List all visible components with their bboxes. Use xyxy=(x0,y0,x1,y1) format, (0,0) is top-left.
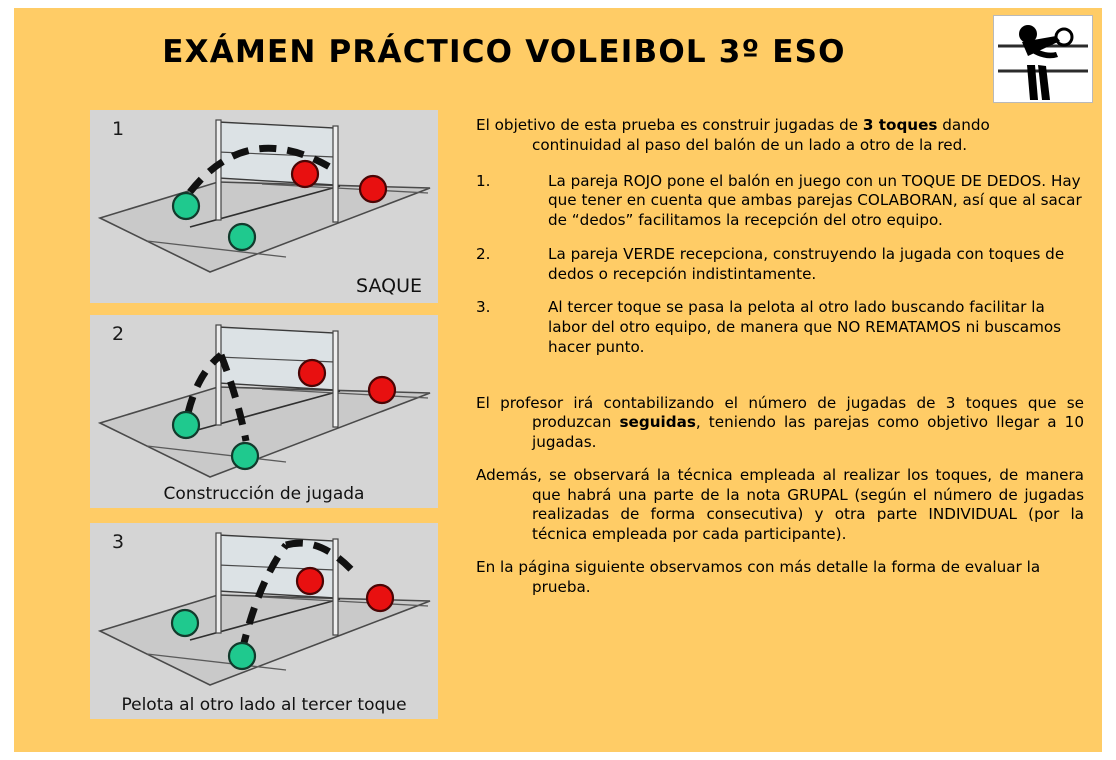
player-green-2 xyxy=(232,443,258,469)
diagram-panel-3: 3 Pelota al otro lado al tercer toque xyxy=(90,523,438,719)
panel-caption: Pelota al otro lado al tercer toque xyxy=(90,695,438,715)
player-red-2 xyxy=(367,585,393,611)
player-red-1 xyxy=(299,360,325,386)
panel-number: 3 xyxy=(112,531,124,553)
step-number: 3. xyxy=(476,298,506,318)
intro-bold: 3 toques xyxy=(863,116,938,134)
player-red-1 xyxy=(292,161,318,187)
paragraph-pre: En la página siguiente observamos con má… xyxy=(476,558,1040,596)
paragraph-bold: seguidas xyxy=(619,413,695,431)
step-text: Al tercer toque se pasa la pelota al otr… xyxy=(548,298,1061,356)
player-green-2 xyxy=(229,224,255,250)
step-item-1: 1. La pareja ROJO pone el balón en juego… xyxy=(476,172,1084,231)
player-red-2 xyxy=(360,176,386,202)
page-title: EXÁMEN PRÁCTICO VOLEIBOL 3º ESO xyxy=(14,34,994,70)
intro-pre: El objetivo de esta prueba es construir … xyxy=(476,116,863,134)
panel-caption: Construcción de jugada xyxy=(90,484,438,504)
player-green-1 xyxy=(173,412,199,438)
instructions-column: El objetivo de esta prueba es construir … xyxy=(476,116,1084,610)
step-item-3: 3. Al tercer toque se pasa la pelota al … xyxy=(476,298,1084,357)
diagram-panel-1: 1 SAQUE xyxy=(90,110,438,303)
paragraph-pre: Además, se observará la técnica empleada… xyxy=(476,466,1084,543)
player-green-2 xyxy=(229,643,255,669)
player-green-1 xyxy=(172,610,198,636)
step-text: La pareja ROJO pone el balón en juego co… xyxy=(548,172,1082,230)
section-spacer xyxy=(476,372,1084,394)
panel-caption: SAQUE xyxy=(90,275,438,297)
step-number: 2. xyxy=(476,245,506,265)
volleyball-pictogram-icon xyxy=(993,15,1093,103)
intro-paragraph: El objetivo de esta prueba es construir … xyxy=(476,116,1084,156)
player-red-2 xyxy=(369,377,395,403)
player-green-1 xyxy=(173,193,199,219)
step-text: La pareja VERDE recepciona, construyendo… xyxy=(548,245,1064,283)
paragraph-next-page: En la página siguiente observamos con má… xyxy=(476,558,1084,598)
paragraph-counting: El profesor irá contabilizando el número… xyxy=(476,394,1084,453)
panel-number: 1 xyxy=(112,118,124,140)
diagram-panel-2: 2 Construcción de jugada xyxy=(90,315,438,508)
step-number: 1. xyxy=(476,172,506,192)
poster-page: EXÁMEN PRÁCTICO VOLEIBOL 3º ESO xyxy=(14,8,1102,752)
panel-number: 2 xyxy=(112,323,124,345)
step-item-2: 2. La pareja VERDE recepciona, construye… xyxy=(476,245,1084,285)
paragraph-technique: Además, se observará la técnica empleada… xyxy=(476,466,1084,545)
player-red-1 xyxy=(297,568,323,594)
